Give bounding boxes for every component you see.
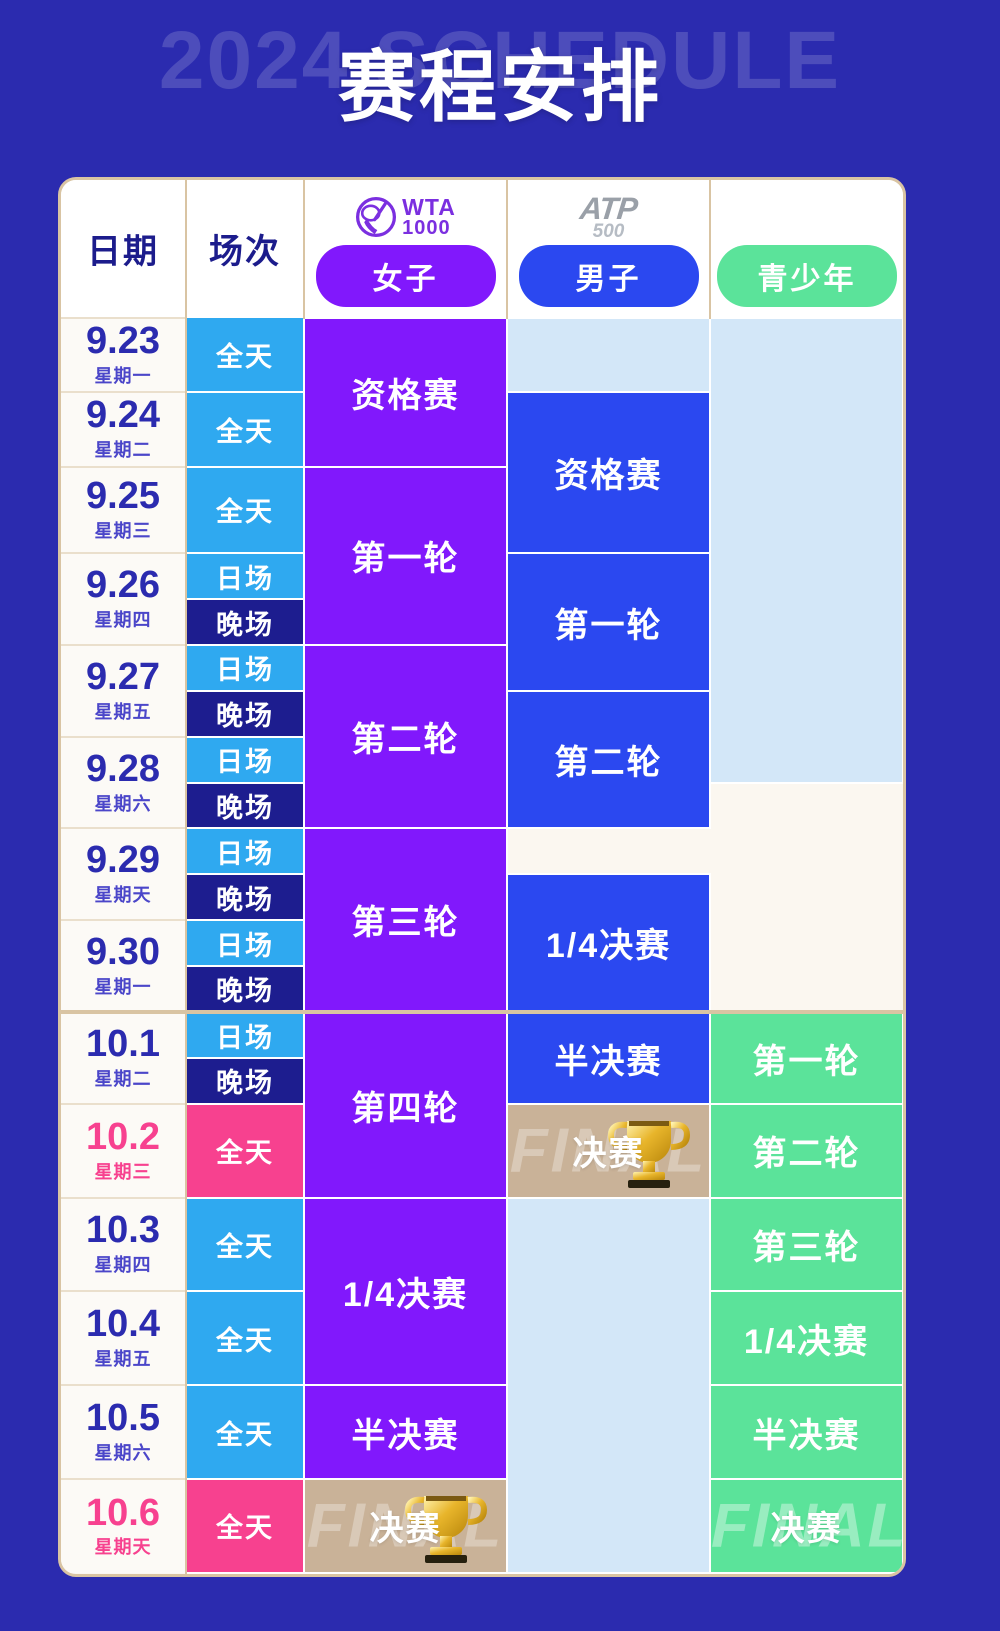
junior-stage-cell: 第二轮 xyxy=(710,1104,903,1198)
date-number: 10.5 xyxy=(61,1399,185,1439)
date-number: 10.1 xyxy=(61,1025,185,1065)
poster-header: 2024 SCHEDULE 赛程安排 xyxy=(0,0,1000,175)
session-cell: 晚场 xyxy=(186,599,304,645)
column-header-date: 日期 xyxy=(61,224,185,273)
date-number: 10.4 xyxy=(61,1305,185,1345)
table-header-row: 日期 场次 xyxy=(61,180,903,318)
session-cell: 全天 xyxy=(186,1198,304,1292)
wta-final-cell: FINAL 决赛 xyxy=(304,1479,507,1573)
table-row: 10.3 星期四 全天 1/4决赛 第三轮 xyxy=(61,1198,903,1292)
date-cell: 9.23 星期一 xyxy=(61,318,186,392)
session-cell: 晚场 xyxy=(186,874,304,920)
date-cell: 9.25 星期三 xyxy=(61,467,186,554)
date-number: 9.27 xyxy=(61,658,185,698)
table-row: 10.1 星期二 日场 第四轮 半决赛 第一轮 xyxy=(61,1012,903,1058)
session-cell: 日场 xyxy=(186,920,304,966)
date-number: 9.24 xyxy=(61,396,185,436)
date-number: 9.23 xyxy=(61,322,185,362)
header-cell-date: 日期 xyxy=(61,180,186,318)
atp-final-label: 决赛 xyxy=(573,1126,645,1175)
session-cell: 全天 xyxy=(186,467,304,554)
date-weekday: 星期五 xyxy=(61,698,185,724)
session-cell: 全天 xyxy=(186,392,304,466)
header-cell-wta: WTA 1000 女子 xyxy=(304,180,507,318)
table-row: 10.5 星期六 全天 半决赛 半决赛 xyxy=(61,1385,903,1479)
date-number: 9.25 xyxy=(61,477,185,517)
session-cell: 晚场 xyxy=(186,691,304,737)
date-weekday: 星期三 xyxy=(61,517,185,543)
junior-final-cell: FINAL 决赛 xyxy=(710,1479,903,1573)
atp-stage-cell: 半决赛 xyxy=(507,1012,710,1104)
date-number: 10.6 xyxy=(61,1494,185,1534)
date-cell: 10.5 星期六 xyxy=(61,1385,186,1479)
junior-stage-cell: 第三轮 xyxy=(710,1198,903,1292)
session-cell: 晚场 xyxy=(186,783,304,829)
junior-stage-cell: 第一轮 xyxy=(710,1012,903,1104)
header-cell-atp: ATP 500 男子 xyxy=(507,180,710,318)
date-number: 9.29 xyxy=(61,841,185,881)
atp-logo-text: ATP xyxy=(579,195,639,223)
session-cell: 全天 xyxy=(186,1385,304,1479)
date-cell: 10.4 星期五 xyxy=(61,1291,186,1385)
header-cell-session: 场次 xyxy=(186,180,304,318)
atp-final-cell: FINAL 决赛 xyxy=(507,1104,710,1198)
wta-logo-tier: 1000 xyxy=(402,219,451,238)
wta-stage-cell: 第四轮 xyxy=(304,1012,507,1198)
date-cell-highlight: 10.2 星期三 xyxy=(61,1104,186,1198)
atp-stage-cell: 资格赛 xyxy=(507,392,710,553)
wta-stage-cell: 第三轮 xyxy=(304,828,507,1012)
session-cell: 全天 xyxy=(186,1104,304,1198)
date-cell: 9.29 星期天 xyxy=(61,828,186,920)
schedule-table-frame: 日期 场次 xyxy=(58,177,906,1577)
date-number: 10.3 xyxy=(61,1211,185,1251)
date-weekday: 星期四 xyxy=(61,606,185,632)
wta-stage-cell: 第二轮 xyxy=(304,645,507,829)
category-pill-men[interactable]: 男子 xyxy=(519,245,699,307)
date-number: 9.28 xyxy=(61,750,185,790)
session-cell: 全天 xyxy=(186,1479,304,1573)
atp-logo: ATP 500 xyxy=(508,189,709,245)
session-cell: 日场 xyxy=(186,737,304,783)
category-pill-women[interactable]: 女子 xyxy=(316,245,496,307)
date-number: 10.2 xyxy=(61,1118,185,1158)
category-pill-junior[interactable]: 青少年 xyxy=(717,245,897,307)
date-cell: 9.28 星期六 xyxy=(61,737,186,829)
date-cell: 10.3 星期四 xyxy=(61,1198,186,1292)
session-cell: 日场 xyxy=(186,645,304,691)
date-weekday: 星期天 xyxy=(61,1533,185,1559)
table-row: 10.6 星期天 全天 FINAL 决赛 xyxy=(61,1479,903,1573)
wta-logo: WTA 1000 xyxy=(305,189,506,245)
atp-stage-cell: 第二轮 xyxy=(507,691,710,829)
date-weekday: 星期二 xyxy=(61,436,185,462)
table-row: 9.23 星期一 全天 资格赛 xyxy=(61,318,903,392)
session-cell: 全天 xyxy=(186,318,304,392)
session-cell: 晚场 xyxy=(186,966,304,1012)
atp-stage-cell-empty xyxy=(507,1198,710,1573)
schedule-table: 日期 场次 xyxy=(61,180,904,1574)
date-number: 9.26 xyxy=(61,566,185,606)
page-title: 赛程安排 xyxy=(0,48,1000,126)
schedule-poster: 2024 SCHEDULE 赛程安排 日期 场次 xyxy=(0,0,1000,1631)
wta-stage-cell: 资格赛 xyxy=(304,318,507,467)
date-weekday: 星期天 xyxy=(61,881,185,907)
date-weekday: 星期三 xyxy=(61,1158,185,1184)
wta-final-label: 决赛 xyxy=(370,1501,442,1550)
header-cell-junior: 青少年 xyxy=(710,180,903,318)
date-weekday: 星期六 xyxy=(61,1439,185,1465)
atp-stage-cell: 1/4决赛 xyxy=(507,874,710,1012)
session-cell: 全天 xyxy=(186,1291,304,1385)
atp-stage-cell: 第一轮 xyxy=(507,553,710,691)
session-cell: 日场 xyxy=(186,553,304,599)
date-cell: 9.27 星期五 xyxy=(61,645,186,737)
date-cell: 10.1 星期二 xyxy=(61,1012,186,1104)
wta-stage-cell: 1/4决赛 xyxy=(304,1198,507,1386)
wta-logo-text: WTA xyxy=(402,197,456,219)
date-number: 9.30 xyxy=(61,933,185,973)
junior-stage-cell-empty xyxy=(710,318,903,783)
date-cell: 9.26 星期四 xyxy=(61,553,186,645)
session-cell: 日场 xyxy=(186,1012,304,1058)
date-weekday: 星期四 xyxy=(61,1251,185,1277)
date-weekday: 星期二 xyxy=(61,1065,185,1091)
column-header-session: 场次 xyxy=(187,224,303,273)
date-weekday: 星期六 xyxy=(61,790,185,816)
date-cell-highlight: 10.6 星期天 xyxy=(61,1479,186,1573)
date-weekday: 星期五 xyxy=(61,1345,185,1371)
junior-logo-placeholder xyxy=(711,189,903,245)
table-row: 9.29 星期天 日场 第三轮 xyxy=(61,828,903,874)
date-weekday: 星期一 xyxy=(61,362,185,388)
session-cell: 日场 xyxy=(186,828,304,874)
date-cell: 9.30 星期一 xyxy=(61,920,186,1012)
date-weekday: 星期一 xyxy=(61,973,185,999)
date-cell: 9.24 星期二 xyxy=(61,392,186,466)
session-cell: 晚场 xyxy=(186,1058,304,1104)
wta-stage-cell: 半决赛 xyxy=(304,1385,507,1479)
junior-stage-cell: 半决赛 xyxy=(710,1385,903,1479)
wta-racket-icon xyxy=(355,196,397,238)
junior-final-label: 决赛 xyxy=(771,1501,843,1550)
atp-stage-cell-empty xyxy=(507,318,710,392)
junior-stage-cell: 1/4决赛 xyxy=(710,1291,903,1385)
wta-stage-cell: 第一轮 xyxy=(304,467,507,645)
